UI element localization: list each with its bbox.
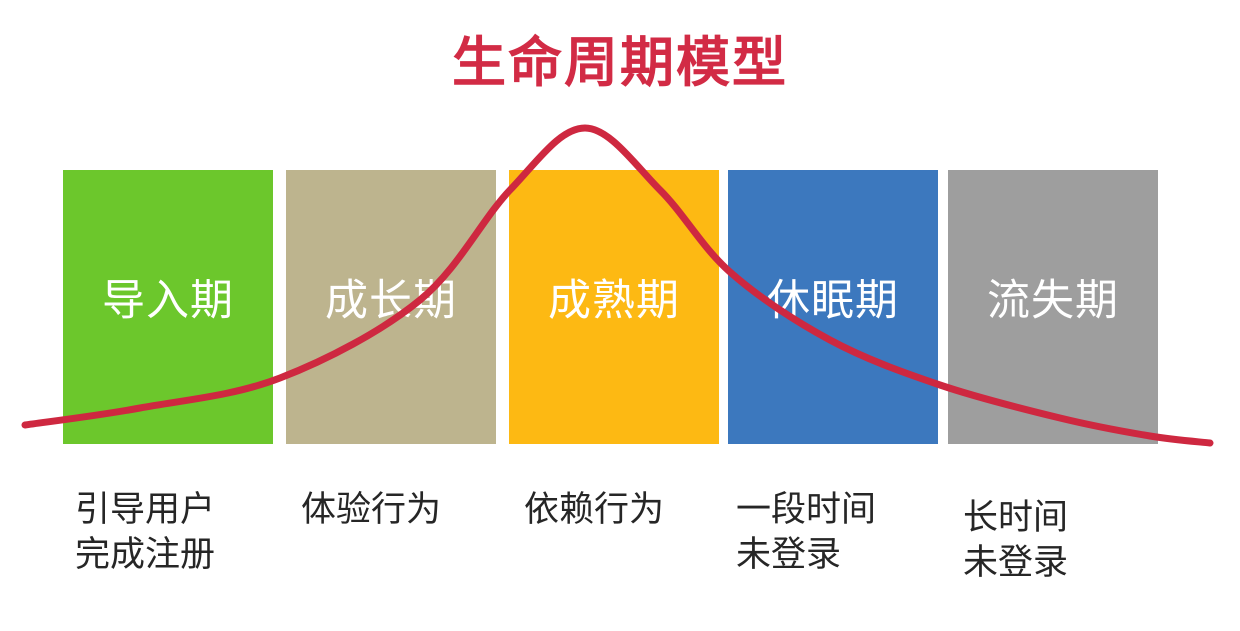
stage-box-1[interactable]: 导入期 — [63, 170, 273, 444]
stage-box-5[interactable]: 流失期 — [948, 170, 1158, 444]
page-title: 生命周期模型 — [0, 34, 1240, 93]
stage-label-4: 休眠期 — [767, 280, 899, 323]
stage-caption-4-line-2: 未登录 — [736, 533, 966, 578]
stage-box-4[interactable]: 休眠期 — [728, 170, 938, 444]
lifecycle-model-slide: 生命周期模型 导入期 成长期 成熟期 休眠期 流失期 引导用户 完成注册 体验行… — [0, 0, 1240, 631]
stage-label-3: 成熟期 — [548, 280, 680, 323]
stage-caption-5: 长时间 未登录 — [963, 496, 1193, 586]
stage-caption-5-line-1: 长时间 — [963, 496, 1193, 541]
stage-caption-1-line-1: 引导用户 — [75, 488, 305, 533]
stage-label-5: 流失期 — [987, 280, 1119, 323]
stage-caption-2: 体验行为 — [301, 488, 531, 533]
stage-label-2: 成长期 — [325, 280, 457, 323]
stage-caption-1: 引导用户 完成注册 — [75, 488, 305, 578]
stage-caption-2-line-1: 体验行为 — [301, 488, 531, 533]
stage-caption-5-line-2: 未登录 — [963, 541, 1193, 586]
stage-caption-3-line-1: 依赖行为 — [524, 488, 754, 533]
stage-box-2[interactable]: 成长期 — [286, 170, 496, 444]
stage-caption-4: 一段时间 未登录 — [736, 488, 966, 578]
stage-boxes-row: 导入期 成长期 成熟期 休眠期 流失期 — [63, 170, 1155, 444]
stage-caption-1-line-2: 完成注册 — [75, 533, 305, 578]
stage-caption-4-line-1: 一段时间 — [736, 488, 966, 533]
stage-captions-row: 引导用户 完成注册 体验行为 依赖行为 一段时间 未登录 长时间 未登录 — [63, 488, 1233, 608]
stage-label-1: 导入期 — [102, 280, 234, 323]
stage-caption-3: 依赖行为 — [524, 488, 754, 533]
stage-box-3[interactable]: 成熟期 — [509, 170, 719, 444]
